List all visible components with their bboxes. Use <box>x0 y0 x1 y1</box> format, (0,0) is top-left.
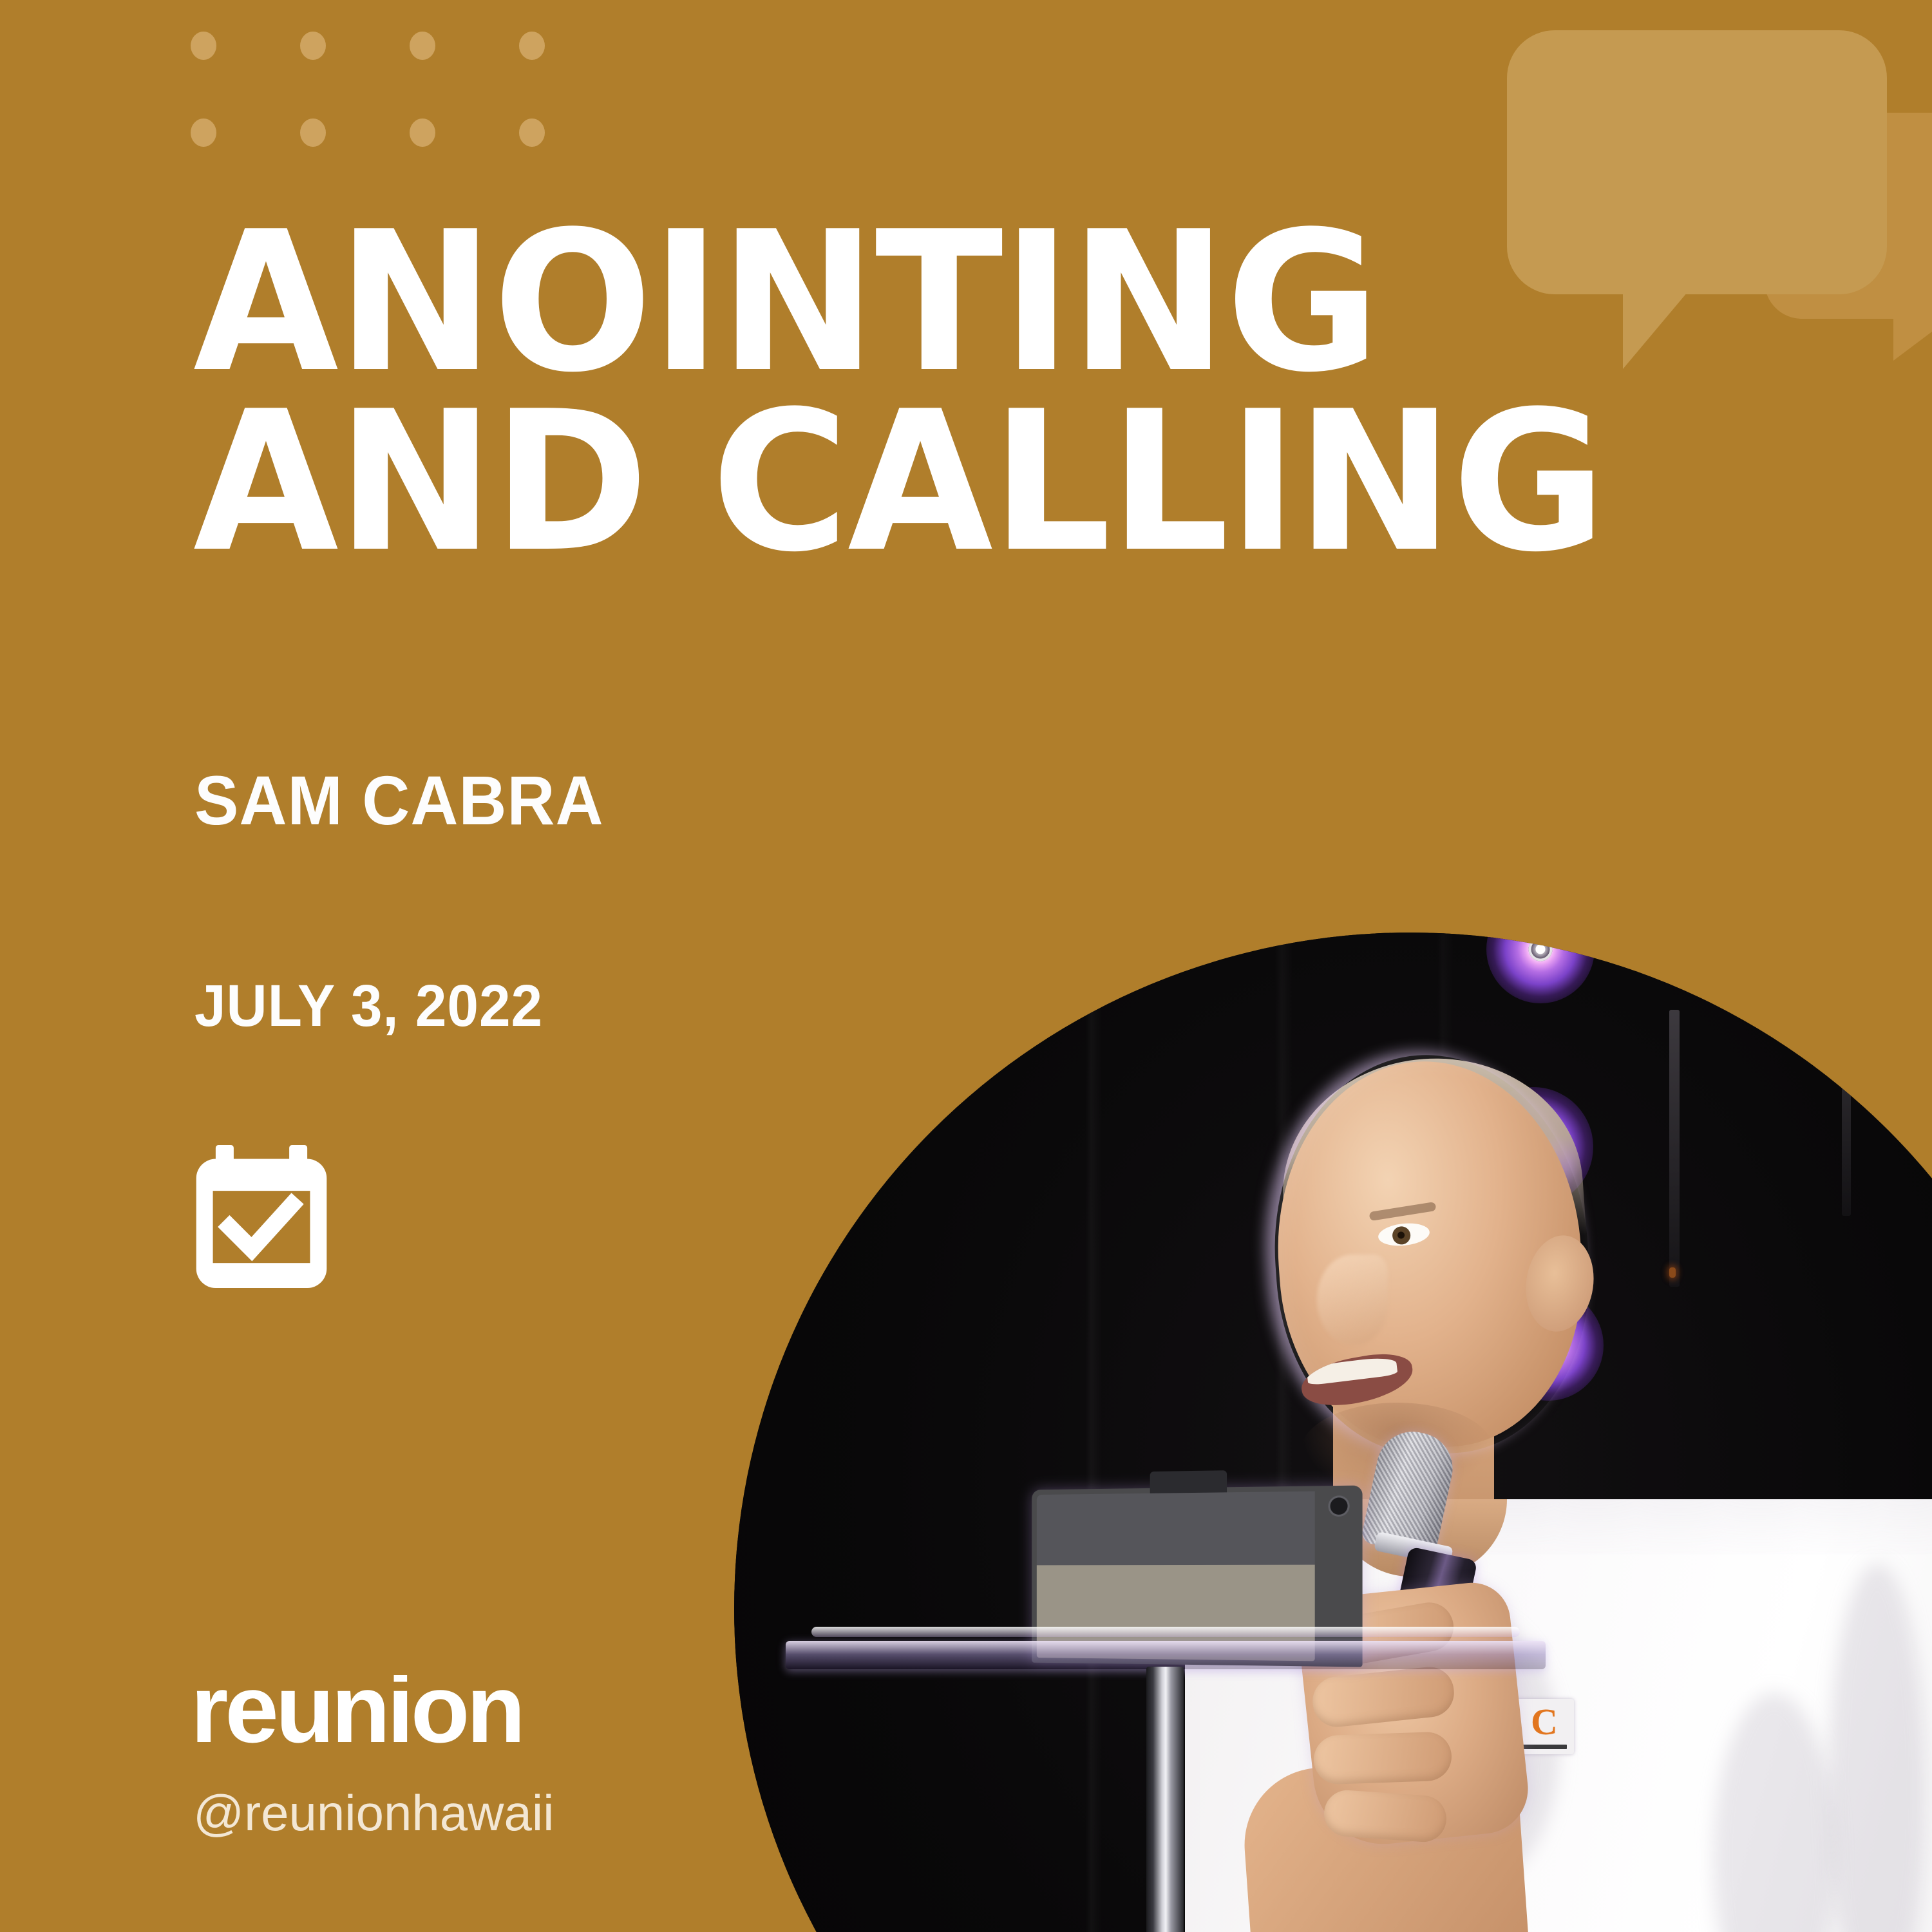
sermon-graphic-canvas: C <box>0 0 1932 1932</box>
event-date: JULY 3, 2022 <box>194 972 543 1040</box>
decor-dot <box>410 118 435 147</box>
decor-dot <box>519 118 545 147</box>
brand-logo-dotless-i: i <box>387 1654 411 1763</box>
podium-lip <box>811 1627 1520 1637</box>
speaker-pupil <box>1392 1226 1412 1245</box>
lighting-rig-rod <box>1669 1010 1680 1287</box>
speaker-photo: C <box>734 933 1932 1932</box>
speech-bubble-back-tail <box>1893 303 1932 361</box>
decor-dot <box>519 32 545 60</box>
tablet-camera-icon <box>1331 1497 1348 1515</box>
speaker-finger <box>1313 1731 1453 1785</box>
carhartt-c-icon: C <box>1531 1703 1558 1741</box>
speaker-name: SAM CABRA <box>194 760 604 840</box>
carhartt-wordmark <box>1522 1745 1567 1749</box>
page-title: ANOINTING AND CALLING <box>193 213 1862 572</box>
brand-logo-part-1: reun <box>191 1654 387 1763</box>
tablet-device <box>1032 1485 1362 1667</box>
tablet-case-band <box>1037 1492 1315 1566</box>
decor-dot <box>410 32 435 60</box>
dot-grid-decoration <box>191 32 558 144</box>
brand-logo-part-2: on <box>411 1654 522 1763</box>
rig-amber-light <box>1669 1267 1676 1278</box>
decor-dot <box>191 118 216 147</box>
podium-stem <box>1146 1667 1184 1932</box>
speaker-nose <box>1317 1255 1388 1345</box>
lighting-rig-rod <box>1842 971 1851 1216</box>
speaker-finger <box>1323 1788 1448 1843</box>
podium-surface <box>786 1641 1546 1669</box>
decor-dot <box>191 32 216 60</box>
tablet-clip <box>1150 1470 1227 1493</box>
decor-dot <box>300 32 326 60</box>
speaker-photo-content: C <box>734 933 1932 1932</box>
brand-logo[interactable]: reunion <box>191 1660 522 1757</box>
decor-dot <box>300 118 326 147</box>
social-handle[interactable]: @reunionhawaii <box>193 1784 554 1842</box>
calendar-check-icon <box>192 1145 331 1288</box>
